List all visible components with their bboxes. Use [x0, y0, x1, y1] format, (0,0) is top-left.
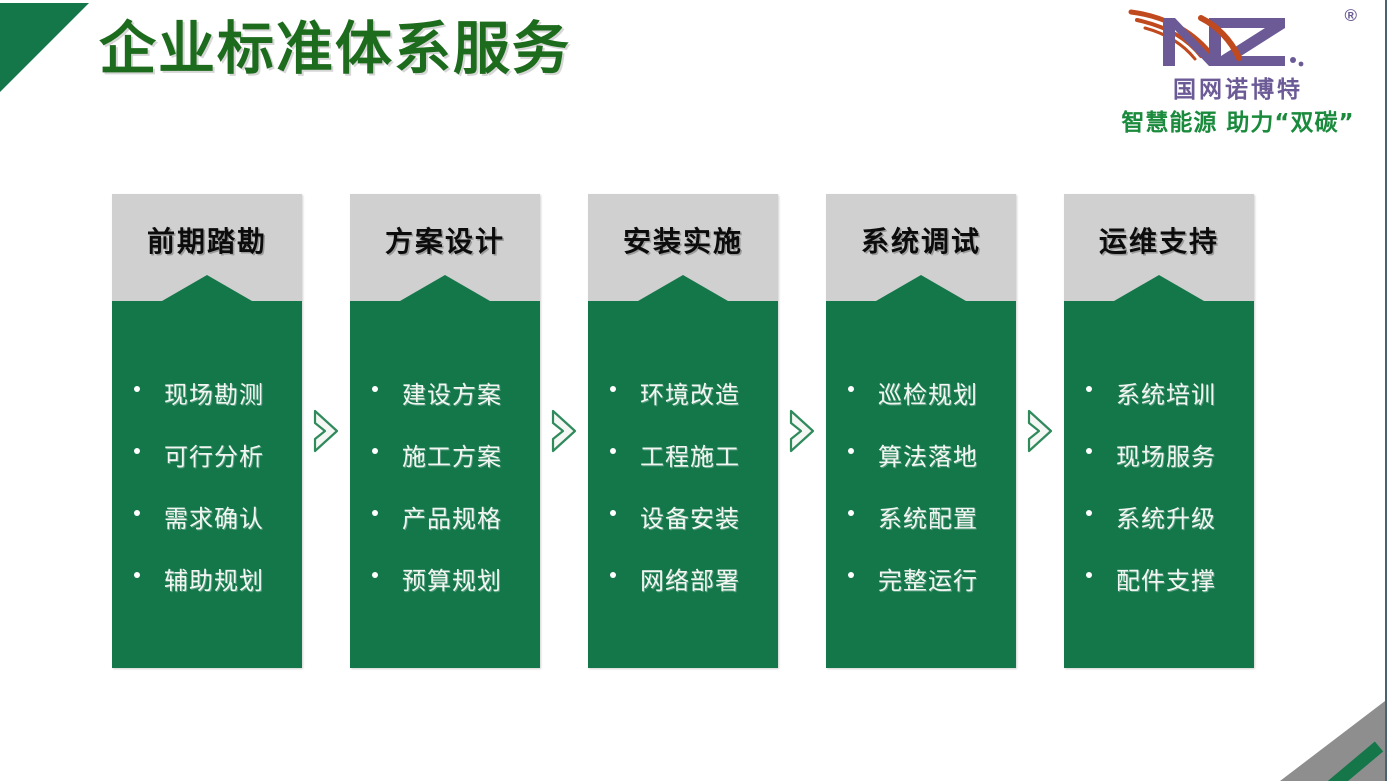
bullet-icon — [610, 572, 616, 578]
bullet-icon — [372, 448, 378, 454]
process-steps-row: 前期踏勘 现场勘测 可行分析 需求确认 辅助规划 方案设计 — [112, 194, 1254, 668]
list-item-label: 施工方案 — [402, 444, 502, 471]
step-item-list: 建设方案 施工方案 产品规格 预算规划 — [350, 301, 540, 596]
chevron-right-icon — [312, 408, 340, 454]
list-item: 算法落地 — [826, 437, 1016, 472]
list-item-label: 算法落地 — [878, 444, 978, 471]
list-item-label: 配件支撑 — [1116, 568, 1216, 595]
step-body: 巡检规划 算法落地 系统配置 完整运行 — [826, 301, 1016, 668]
bullet-icon — [134, 448, 140, 454]
process-step-card[interactable]: 系统调试 巡检规划 算法落地 系统配置 完整运行 — [826, 194, 1016, 668]
process-step-card[interactable]: 前期踏勘 现场勘测 可行分析 需求确认 辅助规划 — [112, 194, 302, 668]
step-title: 运维支持 — [1099, 220, 1219, 260]
slide-header: 企业标准体系服务 ® 国网诺博特 智慧能源 助力“双碳” — [0, 0, 1387, 150]
list-item: 可行分析 — [112, 437, 302, 472]
list-item-label: 网络部署 — [640, 568, 740, 595]
step-title: 系统调试 — [861, 220, 981, 260]
step-title: 方案设计 — [385, 220, 505, 260]
chevron-right-icon — [550, 408, 578, 454]
bottom-right-corner-triangle-decoration — [1280, 701, 1385, 781]
step-body: 现场勘测 可行分析 需求确认 辅助规划 — [112, 301, 302, 668]
step-item-list: 环境改造 工程施工 设备安装 网络部署 — [588, 301, 778, 596]
process-step-card[interactable]: 方案设计 建设方案 施工方案 产品规格 预算规划 — [350, 194, 540, 668]
list-item-label: 辅助规划 — [164, 568, 264, 595]
step-peak-decoration — [1114, 275, 1204, 301]
step-item-list: 巡检规划 算法落地 系统配置 完整运行 — [826, 301, 1016, 596]
list-item: 设备安装 — [588, 499, 778, 534]
list-item: 完整运行 — [826, 561, 1016, 596]
bullet-icon — [848, 448, 854, 454]
step-peak-decoration — [162, 275, 252, 301]
list-item: 建设方案 — [350, 375, 540, 410]
list-item: 环境改造 — [588, 375, 778, 410]
list-item-label: 可行分析 — [164, 444, 264, 471]
chevron-right-icon — [1026, 408, 1054, 454]
list-item-label: 系统配置 — [878, 506, 978, 533]
list-item-label: 巡检规划 — [878, 382, 978, 409]
bullet-icon — [1086, 510, 1092, 516]
logo-tagline: 智慧能源 助力“双碳” — [1113, 103, 1363, 137]
bullet-icon — [848, 510, 854, 516]
list-item-label: 系统培训 — [1116, 382, 1216, 409]
list-item: 系统升级 — [1064, 499, 1254, 534]
list-item-label: 需求确认 — [164, 506, 264, 533]
step-connector — [1016, 194, 1064, 668]
list-item: 预算规划 — [350, 561, 540, 596]
list-item: 工程施工 — [588, 437, 778, 472]
list-item: 巡检规划 — [826, 375, 1016, 410]
step-item-list: 系统培训 现场服务 系统升级 配件支撑 — [1064, 301, 1254, 596]
step-connector — [540, 194, 588, 668]
list-item: 需求确认 — [112, 499, 302, 534]
slide-canvas: 企业标准体系服务 ® 国网诺博特 智慧能源 助力“双碳” 前期踏勘 — [0, 0, 1387, 781]
list-item: 施工方案 — [350, 437, 540, 472]
bullet-icon — [372, 386, 378, 392]
step-body: 环境改造 工程施工 设备安装 网络部署 — [588, 301, 778, 668]
list-item: 配件支撑 — [1064, 561, 1254, 596]
step-body: 建设方案 施工方案 产品规格 预算规划 — [350, 301, 540, 668]
list-item: 辅助规划 — [112, 561, 302, 596]
company-logo: ® 国网诺博特 智慧能源 助力“双碳” — [1113, 4, 1363, 140]
list-item-label: 预算规划 — [402, 568, 502, 595]
bullet-icon — [372, 572, 378, 578]
step-title: 前期踏勘 — [147, 220, 267, 260]
page-title: 企业标准体系服务 — [99, 14, 571, 85]
step-body: 系统培训 现场服务 系统升级 配件支撑 — [1064, 301, 1254, 668]
registered-trademark-icon: ® — [1344, 6, 1357, 26]
logo-brand-name: 国网诺博特 — [1113, 70, 1363, 104]
bullet-icon — [372, 510, 378, 516]
list-item: 现场服务 — [1064, 437, 1254, 472]
bullet-icon — [610, 510, 616, 516]
list-item-label: 现场服务 — [1116, 444, 1216, 471]
logo-monogram-nz-icon — [1113, 4, 1363, 74]
list-item-label: 建设方案 — [402, 382, 502, 409]
list-item: 产品规格 — [350, 499, 540, 534]
bullet-icon — [1086, 448, 1092, 454]
bullet-icon — [848, 572, 854, 578]
list-item-label: 现场勘测 — [164, 382, 264, 409]
list-item-label: 完整运行 — [878, 568, 978, 595]
bullet-icon — [610, 386, 616, 392]
step-peak-decoration — [876, 275, 966, 301]
list-item: 现场勘测 — [112, 375, 302, 410]
bullet-icon — [1086, 386, 1092, 392]
bullet-icon — [610, 448, 616, 454]
step-peak-decoration — [400, 275, 490, 301]
step-connector — [778, 194, 826, 668]
process-step-card[interactable]: 安装实施 环境改造 工程施工 设备安装 网络部署 — [588, 194, 778, 668]
list-item-label: 环境改造 — [640, 382, 740, 409]
bullet-icon — [1086, 572, 1092, 578]
chevron-right-icon — [788, 408, 816, 454]
list-item-label: 系统升级 — [1116, 506, 1216, 533]
bullet-icon — [134, 572, 140, 578]
list-item: 系统培训 — [1064, 375, 1254, 410]
list-item-label: 工程施工 — [640, 444, 740, 471]
step-peak-decoration — [638, 275, 728, 301]
step-connector — [302, 194, 350, 668]
bullet-icon — [134, 510, 140, 516]
bullet-icon — [134, 386, 140, 392]
process-step-card[interactable]: 运维支持 系统培训 现场服务 系统升级 配件支撑 — [1064, 194, 1254, 668]
list-item: 网络部署 — [588, 561, 778, 596]
list-item: 系统配置 — [826, 499, 1016, 534]
list-item-label: 产品规格 — [402, 506, 502, 533]
list-item-label: 设备安装 — [640, 506, 740, 533]
bullet-icon — [848, 386, 854, 392]
step-title: 安装实施 — [623, 220, 743, 260]
step-item-list: 现场勘测 可行分析 需求确认 辅助规划 — [112, 301, 302, 596]
